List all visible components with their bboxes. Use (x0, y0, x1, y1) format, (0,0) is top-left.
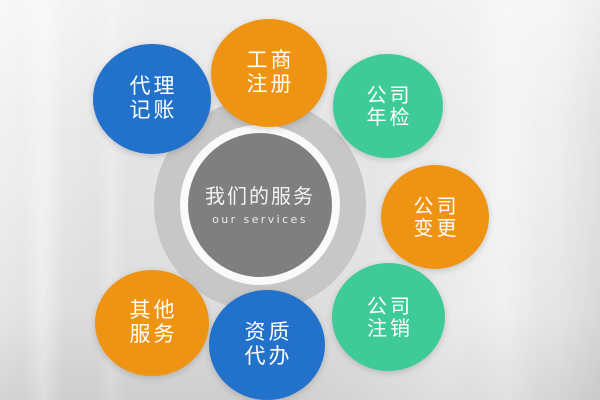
ring-inner-gap: 我们的服务 our services (180, 125, 340, 285)
service-bubble-gongsi-biangeng[interactable]: 公司变更 (381, 165, 489, 269)
service-bubble-label-line2: 代办 (242, 345, 293, 369)
service-bubble-label-line1: 公司 (364, 84, 413, 106)
service-bubble-zizhi-daiban[interactable]: 资质代办 (209, 290, 325, 400)
service-bubble-gongsi-nianjian[interactable]: 公司年检 (333, 54, 443, 158)
service-bubble-gongsi-zhuxiao[interactable]: 公司注销 (332, 263, 445, 371)
service-bubble-label-line2: 服务 (127, 323, 178, 347)
service-bubble-label-line1: 其他 (127, 299, 178, 323)
service-bubble-qita-fuwu[interactable]: 其他服务 (95, 270, 209, 376)
service-bubble-label-line1: 公司 (411, 195, 460, 217)
service-bubble-daili-jizhang[interactable]: 代理记账 (93, 44, 211, 154)
hub-title: 我们的服务 (205, 185, 315, 208)
service-bubble-label-line1: 资质 (242, 321, 293, 345)
service-bubble-label-line1: 代理 (127, 75, 178, 99)
hub-subtitle: our services (212, 213, 308, 226)
service-bubble-gongshang-zhuce[interactable]: 工商注册 (211, 19, 327, 127)
service-bubble-label-line2: 注销 (364, 317, 413, 339)
service-bubble-label-line2: 年检 (364, 106, 413, 128)
infographic-canvas: 我们的服务 our services 代理记账工商注册公司年检公司变更公司注销资… (0, 0, 600, 400)
service-bubble-label-line2: 变更 (411, 217, 460, 239)
background-shadow-band (556, 0, 600, 400)
service-bubble-label-line2: 记账 (127, 99, 178, 123)
center-hub: 我们的服务 our services (188, 133, 332, 277)
service-bubble-label-line2: 注册 (244, 73, 295, 97)
service-bubble-label-line1: 工商 (244, 49, 295, 73)
background-light-band (22, 0, 64, 400)
service-bubble-label-line1: 公司 (364, 295, 413, 317)
